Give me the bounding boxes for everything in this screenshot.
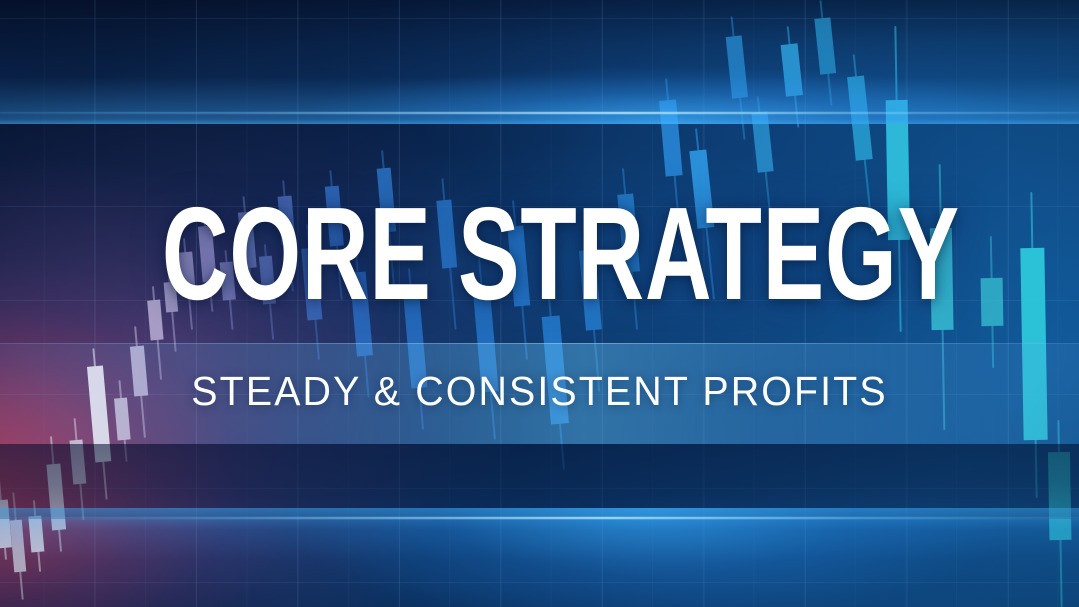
title-block: CORE STRATEGY STEADY & CONSISTENT PROFIT… — [0, 0, 1079, 607]
page-subtitle: STEADY & CONSISTENT PROFITS — [22, 368, 1058, 414]
slide-canvas: CORE STRATEGY STEADY & CONSISTENT PROFIT… — [0, 0, 1079, 607]
page-title: CORE STRATEGY — [162, 198, 917, 310]
